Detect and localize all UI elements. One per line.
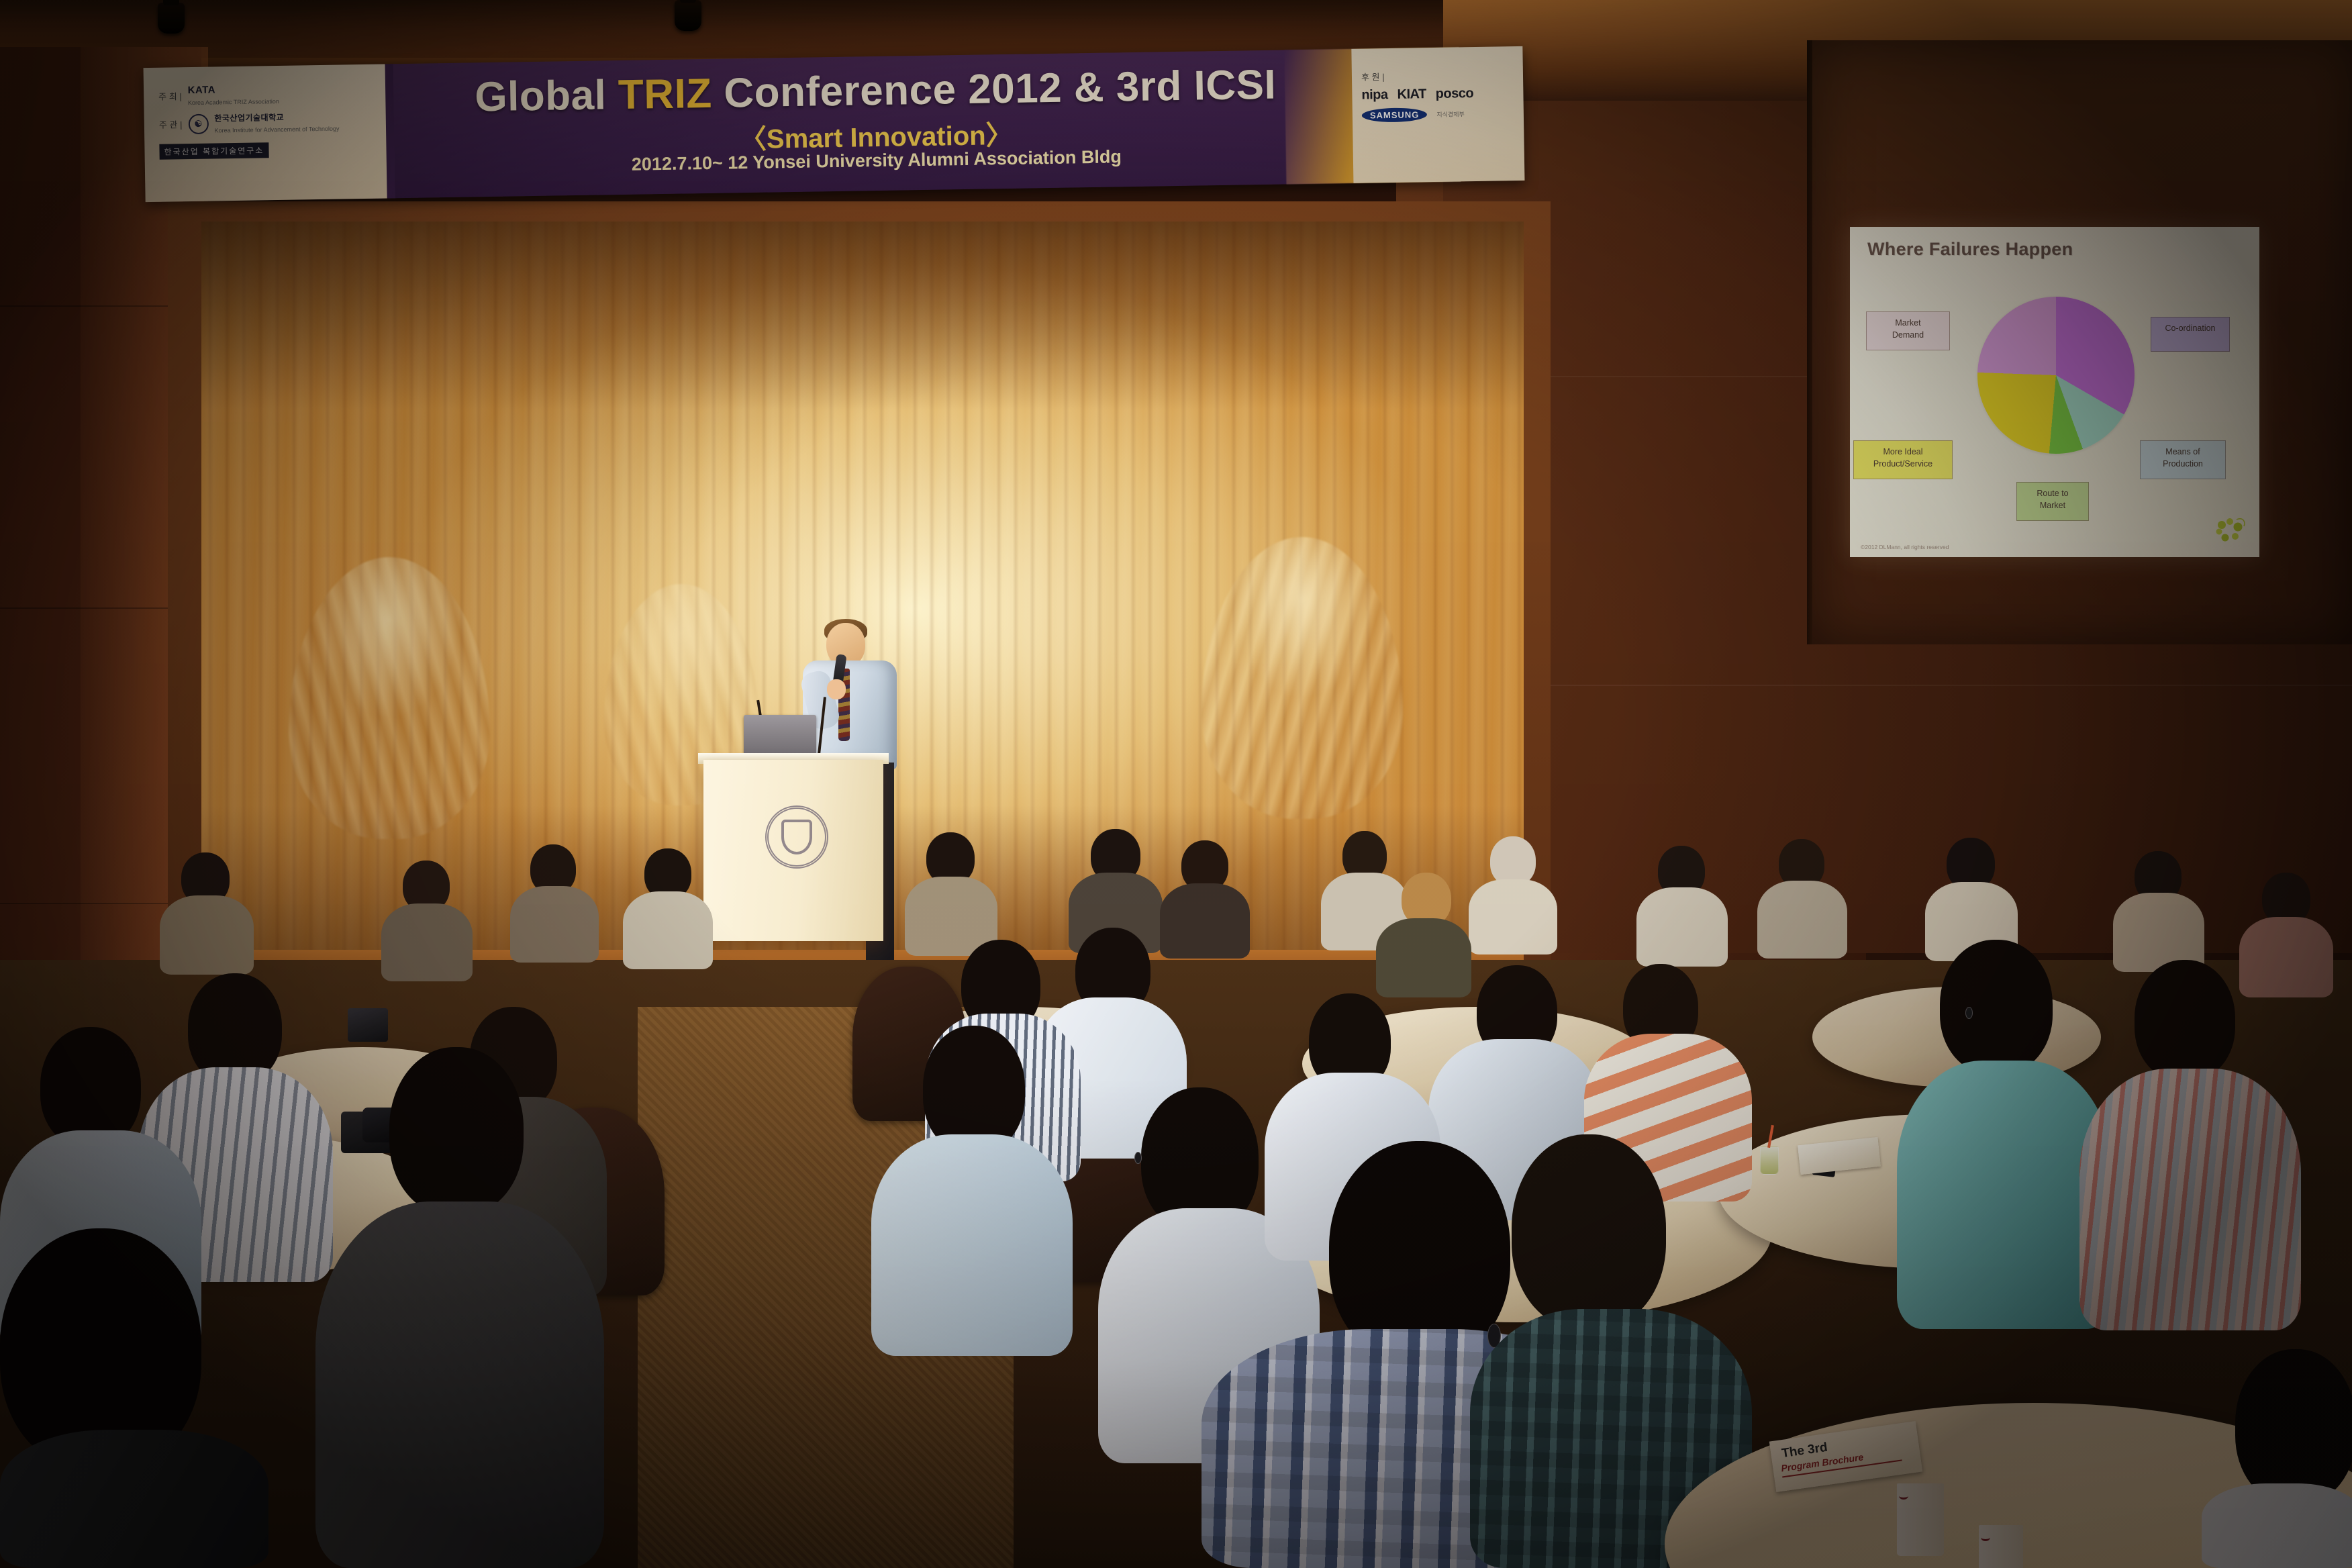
audience-body [1469,879,1557,954]
pie-label-means-of-production-text: Means ofProduction [2163,447,2203,469]
sponsor-extra-label: 지식경제부 [1436,109,1465,119]
banner-left-panel: 주 최 | KATA Korea Academic TRIZ Associati… [144,64,387,202]
banner-host-name-sub: Korea Academic TRIZ Association [188,98,279,106]
banner-institute-bar: 한국산업 복합기술연구소 [159,142,268,160]
pie-label-route-to-market-text: Route toMarket [2037,489,2068,510]
photographer-body [315,1202,604,1568]
projected-slide: Where Failures Happen MarketDemand Co-or… [1850,227,2259,557]
banner-host-row: 주 최 | KATA Korea Academic TRIZ Associati… [158,83,339,107]
audience-body [1757,881,1847,959]
banner-organizer-name: 한국산업기술대학교 [214,113,284,124]
banner-host-name: KATA [187,84,215,96]
banner-host-tag: 주 최 | [158,89,182,103]
banner-title-highlight: TRIZ [618,70,712,118]
wall-panel-line [1443,685,2352,686]
conference-banner: 주 최 | KATA Korea Academic TRIZ Associati… [144,46,1525,202]
presenter-laptop [744,715,816,756]
pie-label-coordination: Co-ordination [2151,317,2230,352]
banner-host-names: KATA Korea Academic TRIZ Association [187,83,279,107]
audience-body [871,1134,1073,1356]
photographer-head [389,1047,524,1215]
pie-label-more-ideal-text: More IdealProduct/Service [1873,447,1932,469]
conference-hall-photo: 주 최 | KATA Korea Academic TRIZ Associati… [0,0,2352,1568]
audience-head [1940,940,2053,1074]
banner-right-panel: 후 원 | nipa KIAT posco SAMSUNG 지식경제부 [1351,46,1524,183]
paper-cup [1897,1483,1944,1556]
audience-body [510,886,599,963]
audience-head [1490,836,1536,886]
audience-head [40,1027,141,1148]
sponsor-logo-samsung: SAMSUNG [1362,107,1428,123]
banner-organizer-row: 주 관 | ☯ 한국산업기술대학교 Korea Institute for Ad… [159,111,340,136]
audience-body [0,1430,268,1568]
banner-organizer-name-sub: Korea Institute for Advancement of Techn… [214,126,339,134]
pie-label-means-of-production: Means ofProduction [2140,440,2226,479]
audience-head [2135,960,2235,1081]
pie-label-market-demand: MarketDemand [1866,311,1950,350]
organizer-logo-icon: ☯ [188,113,208,134]
pie-label-market-demand-text: MarketDemand [1892,318,1924,340]
audience-body [1160,883,1250,959]
green-bubble-logo-icon [2212,516,2247,546]
ceiling-spotlight-icon [675,0,701,31]
audience-body [381,903,473,981]
banner-title-part1: Global [475,72,619,120]
sponsor-logo-kiat: KIAT [1397,87,1426,103]
banner-sponsor-tag: 후 원 | [1361,68,1516,83]
audience-body [1376,918,1471,997]
pie-label-coordination-text: Co-ordination [2165,324,2215,333]
slide-copyright-footer: ©2012 DLMann, all rights reserved [1861,544,1949,550]
pie-chart [1977,297,2135,454]
paper-cup [1979,1525,2023,1568]
camera-flash-unit [348,1008,388,1042]
ceiling-spotlight-icon [158,3,185,34]
translation-earpiece-icon [1134,1152,1142,1164]
sponsor-logo-grid: nipa KIAT posco SAMSUNG 지식경제부 [1361,85,1516,123]
sponsor-logo-posco: posco [1436,86,1474,102]
slide-title: Where Failures Happen [1867,239,2073,260]
pie-label-route-to-market: Route toMarket [2016,482,2089,521]
banner-organizer-names: 한국산업기술대학교 Korea Institute for Advancemen… [214,111,339,135]
audience-body [1636,887,1728,967]
audience-body [160,895,254,975]
speaker-hand [827,679,846,699]
banner-organizer-tag: 주 관 | [159,117,183,131]
audience-body [2202,1483,2352,1568]
iced-drink-cup [1760,1146,1779,1175]
audience-body [623,891,713,969]
audience-body [2079,1069,2301,1330]
audience-head [2235,1349,2352,1504]
translation-earpiece-icon [1965,1007,1973,1019]
banner-organizers: 주 최 | KATA Korea Academic TRIZ Associati… [158,83,340,160]
yonsei-crest-icon [765,805,828,869]
banner-sponsors: 후 원 | nipa KIAT posco SAMSUNG 지식경제부 [1361,68,1516,123]
audience-head [1512,1134,1666,1329]
pie-label-more-ideal: More IdealProduct/Service [1853,440,1953,479]
curtain-top-shadow [201,222,1524,409]
audience-body [2239,917,2333,997]
banner-title-part2: Conference 2012 & 3rd ICSI [712,62,1276,117]
